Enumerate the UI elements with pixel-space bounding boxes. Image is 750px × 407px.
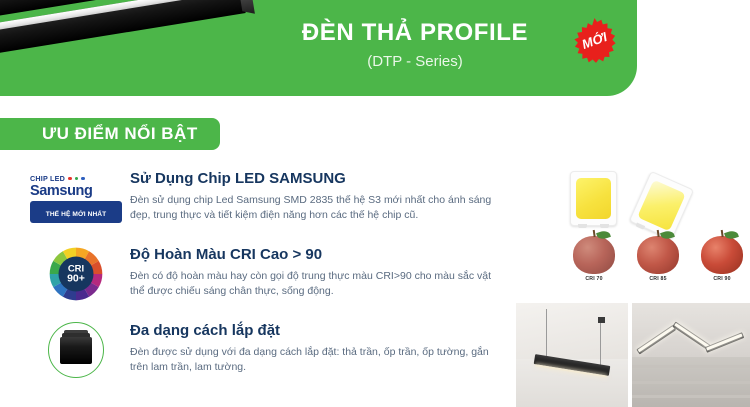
chip-led-label: CHIP LED xyxy=(30,174,65,183)
page-subtitle: (DTP - Series) xyxy=(290,53,540,70)
phosphor-surface xyxy=(638,180,686,231)
chip-pad xyxy=(635,222,645,229)
feature-title: Đa dạng cách lắp đặt xyxy=(130,322,512,340)
ceiling-mount xyxy=(598,317,605,323)
apple-icon xyxy=(701,236,743,274)
shelf-line xyxy=(632,365,750,368)
section-title-band: ƯU ĐIỂM NỔI BẬT xyxy=(0,118,220,150)
apple-sample: CRI 90 xyxy=(694,236,750,296)
led-chip-photos xyxy=(560,168,740,228)
feature-title: Độ Hoàn Màu CRI Cao > 90 xyxy=(130,246,512,264)
apple-stem xyxy=(593,230,596,237)
samsung-tagline-box: THẾ HỆ MỚI NHẤT xyxy=(30,201,122,223)
smd-led-chip-front xyxy=(570,171,617,226)
apple-leaf xyxy=(724,229,739,241)
profile-cross-section-shape xyxy=(60,337,92,364)
feature-body: Đèn có độ hoàn màu hay còn gọi độ trung … xyxy=(130,269,498,299)
features-list: CHIP LED Samsung THẾ HỆ MỚI NHẤT Sử Dụng… xyxy=(0,168,512,398)
feature-item-cri: CRI 90+ Độ Hoàn Màu CRI Cao > 90 Đèn có … xyxy=(0,246,512,312)
smd-led-chip-angled xyxy=(629,171,694,240)
apple-stem xyxy=(721,230,724,237)
feature-body: Đèn sử dụng chip Led Samsung SMD 2835 th… xyxy=(130,193,498,223)
apple-caption: CRI 90 xyxy=(694,276,750,282)
apple-leaf xyxy=(596,229,611,241)
shelf-line xyxy=(632,395,750,398)
feature-body: Đèn được sử dụng với đa dạng cách lắp đặ… xyxy=(130,345,498,375)
samsung-tagline-label: THẾ HỆ MỚI NHẤT xyxy=(46,211,107,218)
product-hero-image xyxy=(0,0,300,96)
suspension-cord xyxy=(600,319,601,365)
product-feature-page: ĐÈN THẢ PROFILE (DTP - Series) MỚI ƯU ĐI… xyxy=(0,0,750,407)
zigzag-ceiling-light-photo xyxy=(632,303,750,407)
installation-profile-icon xyxy=(30,322,122,384)
feature-item-installation: Đa dạng cách lắp đặt Đèn được sử dụng vớ… xyxy=(0,322,512,388)
rgb-dots-icon xyxy=(68,177,85,181)
header-banner: ĐÈN THẢ PROFILE (DTP - Series) MỚI xyxy=(0,0,637,96)
ceiling-surface xyxy=(632,303,750,357)
section-title: ƯU ĐIỂM NỔI BẬT xyxy=(42,124,198,144)
cri-label-line2: 90+ xyxy=(67,274,85,285)
suspension-cord xyxy=(546,309,547,361)
apple-icon xyxy=(573,236,615,274)
apple-sample: CRI 85 xyxy=(630,236,686,296)
chip-pad xyxy=(600,224,609,228)
cri-value-circle: CRI 90+ xyxy=(59,257,94,292)
page-title: ĐÈN THẢ PROFILE xyxy=(290,20,540,46)
samsung-brand-label: Samsung xyxy=(30,184,122,199)
pendant-linear-light-photo xyxy=(516,303,628,407)
apple-sample: CRI 70 xyxy=(566,236,622,296)
apple-icon xyxy=(637,236,679,274)
new-badge: MỚI xyxy=(571,17,618,64)
header-text-block: ĐÈN THẢ PROFILE (DTP - Series) xyxy=(290,20,540,70)
apple-caption: CRI 70 xyxy=(566,276,622,282)
apple-caption: CRI 85 xyxy=(630,276,686,282)
installation-photos xyxy=(516,303,750,407)
feature-title: Sử Dụng Chip LED SAMSUNG xyxy=(130,170,512,188)
profile-light-bar-bottom xyxy=(0,0,246,72)
shelf-line xyxy=(632,381,750,384)
samsung-chip-led-logo-icon: CHIP LED Samsung THẾ HỆ MỚI NHẤT xyxy=(30,170,122,232)
phosphor-surface xyxy=(576,178,610,218)
cri-apple-comparison: CRI 70 CRI 85 CRI 90 xyxy=(566,236,750,296)
chip-pad xyxy=(578,224,587,228)
cri-color-wheel-icon: CRI 90+ xyxy=(30,246,122,308)
bar-end-cap xyxy=(238,0,255,14)
feature-item-samsung-chip: CHIP LED Samsung THẾ HỆ MỚI NHẤT Sử Dụng… xyxy=(0,170,512,236)
